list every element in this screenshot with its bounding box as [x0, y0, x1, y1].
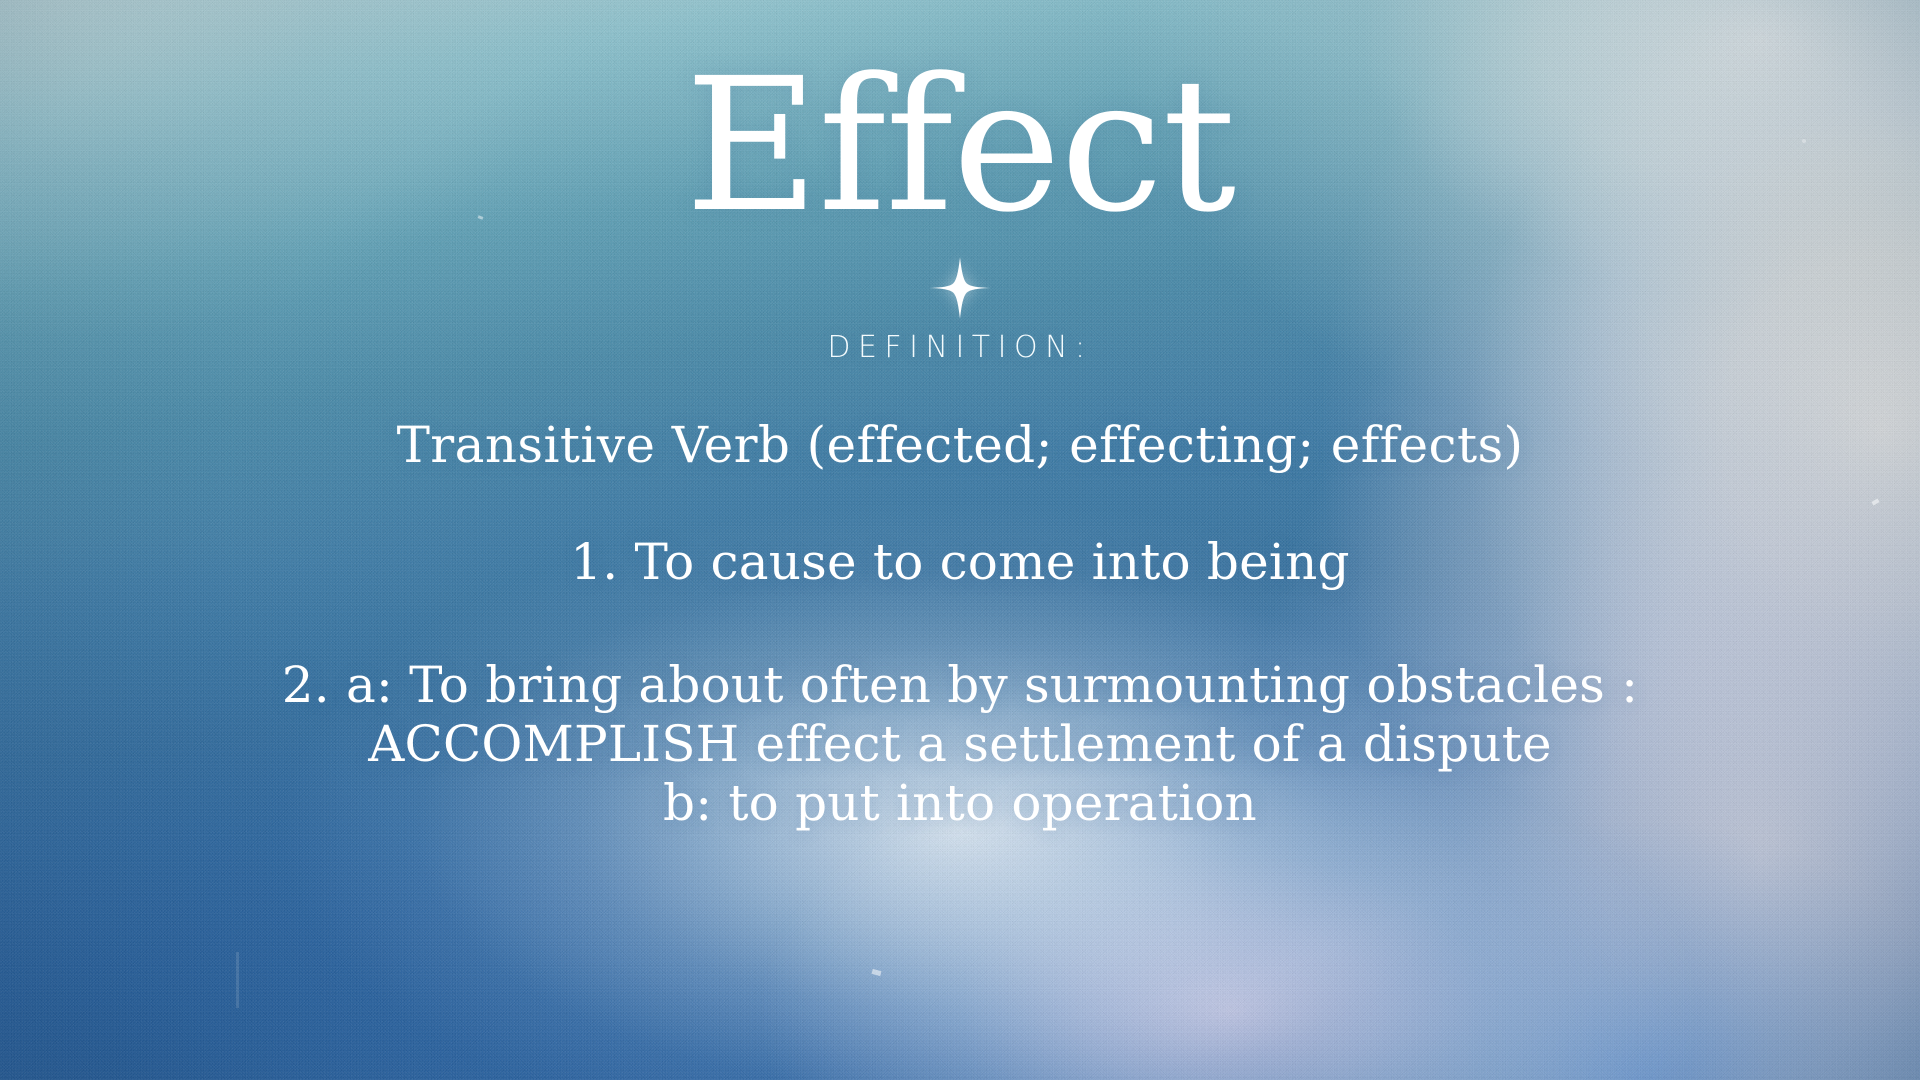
four-point-sparkle-icon: [928, 256, 992, 320]
sense-line: 2. a: To bring about often by surmountin…: [0, 656, 1920, 715]
sense-list: 1. To cause to come into being 2. a: To …: [0, 485, 1920, 833]
sense-entry-2: 2. a: To bring about often by surmountin…: [0, 656, 1920, 833]
definition-label: DEFINITION:: [827, 330, 1092, 365]
sense-line: ACCOMPLISH effect a settlement of a disp…: [0, 715, 1920, 774]
word-form-line: Transitive Verb (effected; effecting; ef…: [397, 417, 1524, 475]
sense-entry-1: 1. To cause to come into being: [0, 533, 1920, 592]
sense-line: b: to put into operation: [0, 774, 1920, 833]
ornament-row: [928, 252, 992, 324]
card-content: Effect DEFINITION: Transitive Verb (effe…: [0, 0, 1920, 1080]
sense-line: 1. To cause to come into being: [0, 533, 1920, 592]
page-title: Effect: [685, 54, 1235, 238]
definition-card: Effect DEFINITION: Transitive Verb (effe…: [0, 0, 1920, 1080]
